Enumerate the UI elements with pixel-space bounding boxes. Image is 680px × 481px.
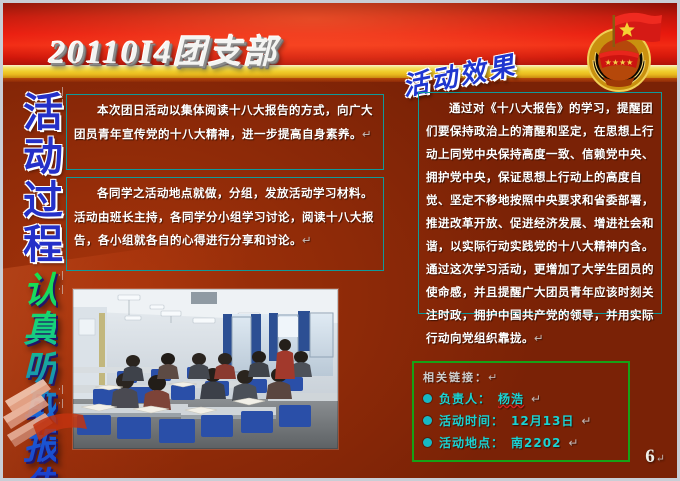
related-links-title: 相关链接：↵: [423, 369, 619, 385]
pilcrow-mark: ↵: [362, 127, 372, 141]
slide-title: 20110I4团支部: [49, 25, 278, 73]
link-label: 负责人：: [439, 390, 491, 407]
pilcrow-mark: ↵: [656, 453, 665, 465]
paragraph-1-text: 本次团日活动以集体阅读十八大报告的方式，向广大团员青年宣传党的十八大精神，进一步…: [74, 99, 376, 146]
pilcrow-mark: ↵: [531, 392, 542, 406]
textbox-activity-effect[interactable]: 通过对《十八大报告》的学习，提醒团们要保持政治上的清醒和坚定，在思想上行动上同党…: [418, 92, 662, 314]
editing-mark: ·|: [58, 87, 64, 97]
pilcrow-mark: ↵: [302, 233, 312, 247]
list-item[interactable]: 活动地点： 南2202 ↵: [423, 434, 619, 451]
presentation-slide: 20110I4团支部 ★★★★: [0, 0, 680, 481]
link-label: 活动地点：: [439, 434, 504, 451]
pilcrow-mark: ↵: [534, 331, 544, 345]
link-value: 杨浩: [498, 390, 524, 407]
paragraph-2-text: 各同学之活动地点就做，分组，发放活动学习材料。活动由班长主持，各同学分小组学习讨…: [74, 182, 376, 253]
editing-mark: ·|: [58, 271, 64, 281]
svg-text:★★★★: ★★★★: [605, 58, 634, 67]
textbox-paragraph-1[interactable]: 本次团日活动以集体阅读十八大报告的方式，向广大团员青年宣传党的十八大精神，进一步…: [66, 94, 384, 170]
editing-mark: ·|: [58, 399, 64, 409]
textbox-paragraph-2[interactable]: 各同学之活动地点就做，分组，发放活动学习材料。活动由班长主持，各同学分小组学习讨…: [66, 177, 384, 271]
list-item[interactable]: 活动时间： 12月13日 ↵: [423, 412, 619, 429]
link-label: 活动时间：: [439, 412, 504, 429]
editing-mark: ·|: [58, 385, 64, 395]
wordart-listen-to-report: 认真听取报告: [20, 271, 56, 481]
bullet-icon: [423, 416, 432, 425]
effect-text: 通过对《十八大报告》的学习，提醒团们要保持政治上的清醒和坚定，在思想上行动上同党…: [426, 97, 654, 350]
bullet-icon: [423, 438, 432, 447]
editing-mark: ·|: [58, 99, 64, 109]
page-number: 6↵: [645, 446, 665, 468]
pilcrow-mark: ↵: [488, 371, 499, 384]
wordart-activity-process: 活动过程: [19, 91, 59, 267]
link-value: 南2202: [511, 434, 561, 451]
list-item[interactable]: 负责人： 杨浩 ↵: [423, 390, 619, 407]
pilcrow-mark: ↵: [581, 414, 592, 428]
editing-mark: ·|: [58, 285, 64, 295]
pilcrow-mark: ↵: [568, 436, 579, 450]
link-value: 12月13日: [511, 412, 574, 429]
bullet-icon: [423, 394, 432, 403]
classroom-students-photo[interactable]: [73, 289, 338, 449]
related-links-box[interactable]: 相关链接：↵ 负责人： 杨浩 ↵ 活动时间： 12月13日 ↵ 活动地点： 南2…: [412, 361, 630, 462]
communist-youth-league-emblem: ★★★★: [569, 7, 669, 95]
